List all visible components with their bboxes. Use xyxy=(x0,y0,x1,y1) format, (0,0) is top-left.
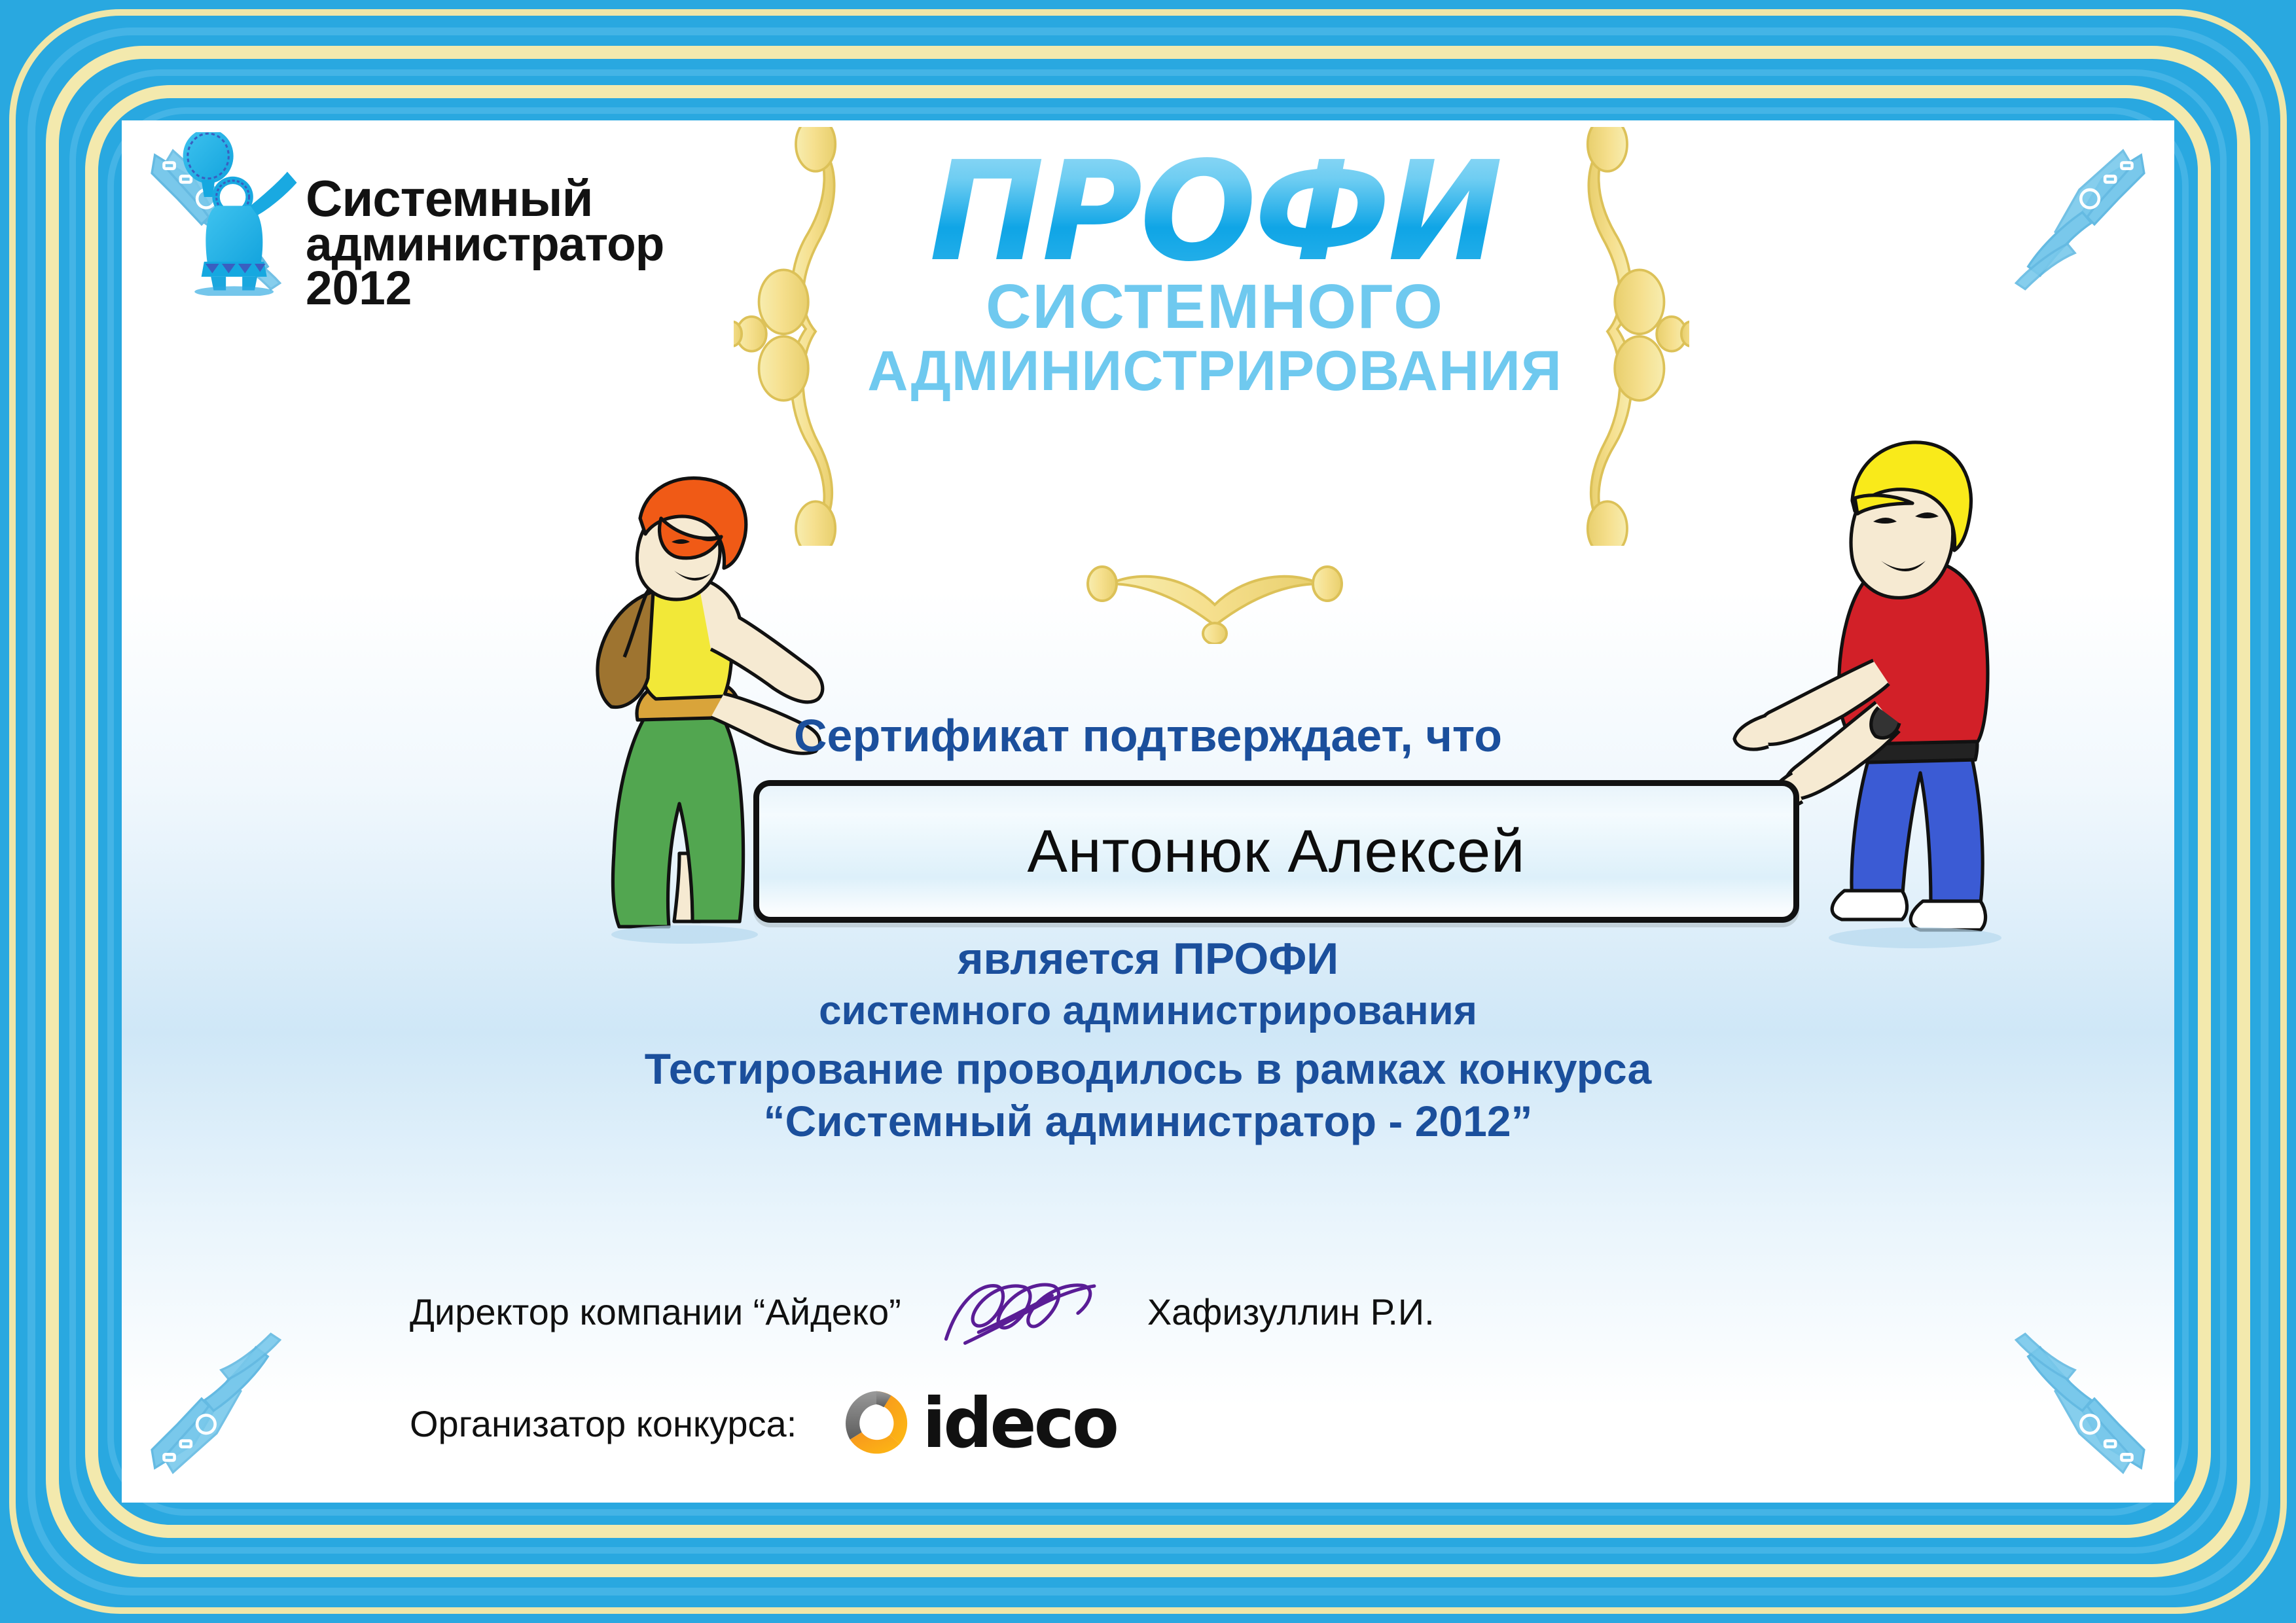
director-label: Директор компании “Айдеко” xyxy=(410,1291,901,1333)
crimping-tool-icon xyxy=(2004,1332,2155,1483)
organizer-label: Организатор конкурса: xyxy=(410,1402,797,1445)
sysadmin-brand-logo: Системный администратор 2012 xyxy=(161,132,664,310)
golden-swirl-ornament-icon xyxy=(1084,565,1346,644)
brand-line-3: 2012 xyxy=(306,266,664,310)
director-name: Хафизуллин Р.И. xyxy=(1147,1291,1435,1333)
body-line-4: “Системный администратор - 2012” xyxy=(122,1095,2174,1148)
ideco-ring-icon xyxy=(840,1387,913,1460)
headline-block: ПРОФИ СИСТЕМНОГО АДМИНИСТРИРОВАНИЯ xyxy=(829,147,1601,404)
body-line-3: Тестирование проводилось в рамках конкур… xyxy=(122,1043,2174,1096)
certificate-canvas: Системный администратор 2012 xyxy=(0,0,2296,1623)
body-line-2: системного администрирования xyxy=(122,986,2174,1036)
director-row: Директор компании “Айдеко” Хафизуллин Р.… xyxy=(410,1277,1562,1346)
headline-profi: ПРОФИ xyxy=(829,147,1601,277)
crimping-tool-icon xyxy=(2004,140,2155,291)
recipient-name: Антонюк Алексей xyxy=(1027,817,1525,886)
headline-sub-2: АДМИНИСТРИРОВАНИЯ xyxy=(829,339,1601,404)
certificate-body: является ПРОФИ системного администрирова… xyxy=(122,932,2174,1148)
confirm-text: Сертификат подтверждает, что xyxy=(122,709,2174,762)
organizer-row: Организатор конкурса: xyxy=(410,1383,1117,1463)
ideco-wordmark: ideco xyxy=(922,1383,1117,1463)
brand-line-1: Системный xyxy=(306,175,664,223)
recipient-name-plate: Антонюк Алексей xyxy=(753,780,1799,923)
body-line-1: является ПРОФИ xyxy=(122,932,2174,986)
brand-line-2: администратор xyxy=(306,223,664,266)
ideco-logo: ideco xyxy=(840,1383,1117,1463)
eskimo-mascot-icon xyxy=(161,132,302,296)
crimping-tool-icon xyxy=(141,1332,292,1483)
certificate-page: Системный администратор 2012 xyxy=(122,120,2174,1503)
signature-scribble-icon xyxy=(938,1277,1115,1346)
